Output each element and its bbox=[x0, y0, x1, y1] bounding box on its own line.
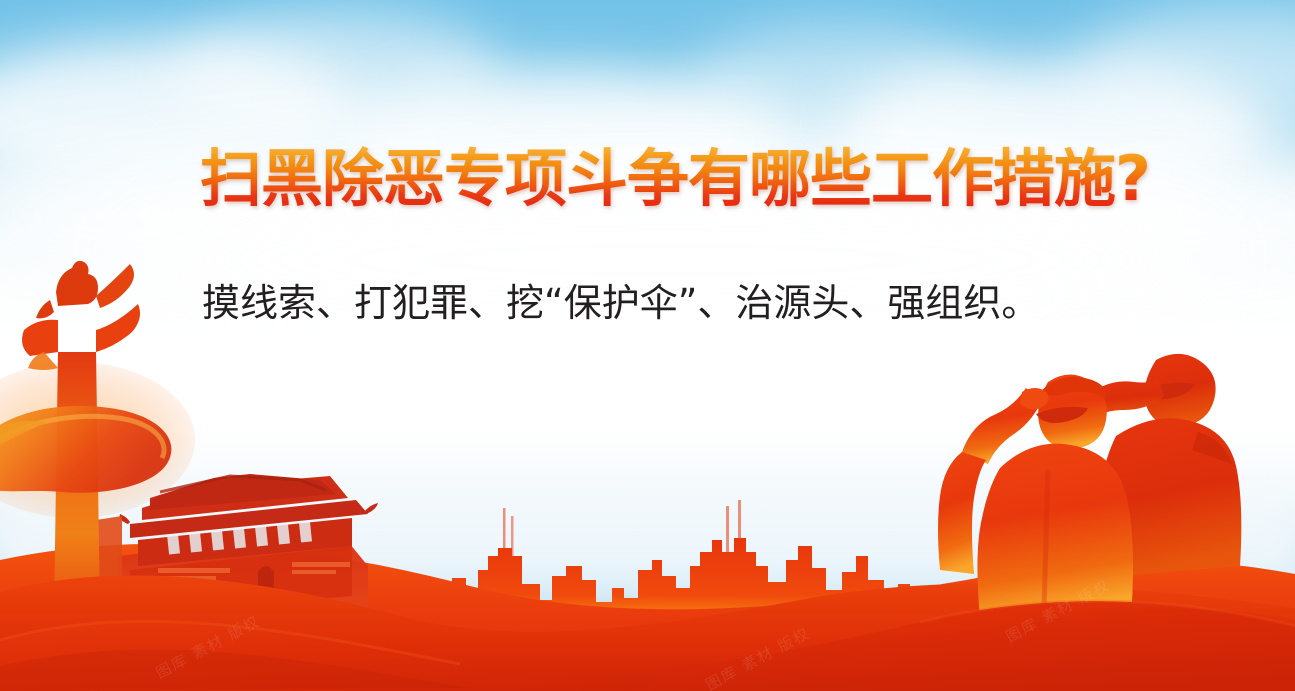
poster-artwork bbox=[0, 0, 1295, 691]
cloud-ribbon bbox=[0, 406, 171, 493]
page-title: 扫黑除恶专项斗争有哪些工作措施? bbox=[200, 146, 1150, 212]
page-subtitle: 摸线索、打犯罪、挖“保护伞”、治源头、强组织。 bbox=[202, 280, 1039, 328]
poster-canvas: 图库 素材 版权 图库 素材 版权 图库 素材 版权 扫黑除恶专项斗争有哪些工作… bbox=[0, 0, 1295, 691]
